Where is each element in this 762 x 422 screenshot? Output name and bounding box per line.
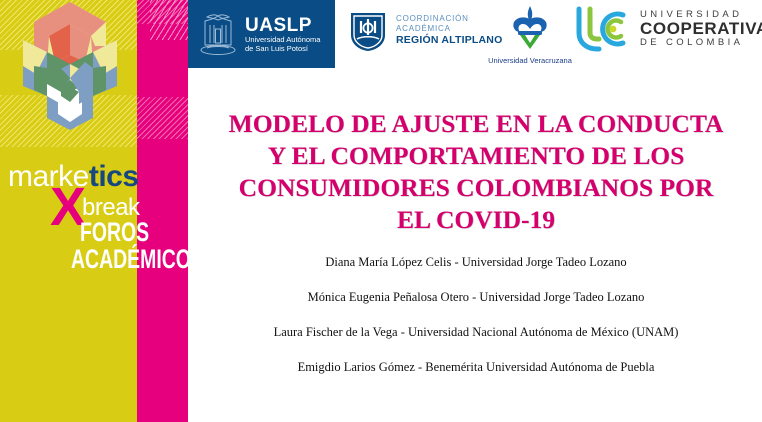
geometric-cube-logo-icon: [3, 0, 137, 132]
presentation-slide: marketics X break FOROS ACADÉMICOS UASLP…: [0, 0, 762, 422]
coordinacion-shield-icon: [348, 9, 388, 53]
marketics-wordmark: marketics X break FOROS ACADÉMICOS: [8, 160, 188, 270]
presentation-title: MODELO DE AJUSTE EN LA CONDUCTA Y EL COM…: [196, 108, 756, 236]
author-list: Diana María López Celis - Universidad Jo…: [196, 255, 756, 375]
author-line: Laura Fischer de la Vega - Universidad N…: [196, 325, 756, 340]
universidad-cooperativa-logo: UNIVERSIDAD COOPERATIVA DE COLOMBIA: [573, 5, 762, 53]
ucc-u-c-target-icon: [573, 5, 631, 53]
ucc-line3: DE COLOMBIA: [640, 38, 762, 48]
institution-logo-strip: UASLP Universidad Autónoma de San Luis P…: [188, 0, 762, 72]
title-line: EL COVID-19: [196, 204, 756, 236]
title-line: Y EL COMPORTAMIENTO DE LOS: [196, 140, 756, 172]
author-line: Diana María López Celis - Universidad Jo…: [196, 255, 756, 270]
fleur-de-lis-icon: [507, 4, 553, 50]
uaslp-eagle-crest-icon: [198, 12, 238, 56]
veracruzana-caption: Universidad Veracruzana: [484, 56, 576, 65]
author-line: Emigdio Larios Gómez - Benemérita Univer…: [196, 360, 756, 375]
ucc-line2: COOPERATIVA: [640, 20, 762, 38]
uaslp-subtitle-line2: de San Luis Potosí: [245, 45, 320, 53]
wordmark-academicos: ACADÉMICOS: [71, 244, 204, 275]
author-line: Mónica Eugenia Peñalosa Otero - Universi…: [196, 290, 756, 305]
pink-hatch-texture-middle: [137, 97, 188, 139]
title-line: MODELO DE AJUSTE EN LA CONDUCTA: [196, 108, 756, 140]
wordmark-tics: tics: [89, 160, 139, 193]
coordinacion-academica-logo: COORDINACIÓN ACADÉMICA REGIÓN ALTIPLANO: [348, 9, 502, 53]
uaslp-name: UASLP: [245, 15, 320, 36]
universidad-veracruzana-logo: Universidad Veracruzana: [484, 4, 576, 65]
title-line: CONSUMIDORES COLOMBIANOS POR: [196, 172, 756, 204]
uaslp-logo: UASLP Universidad Autónoma de San Luis P…: [188, 0, 335, 68]
